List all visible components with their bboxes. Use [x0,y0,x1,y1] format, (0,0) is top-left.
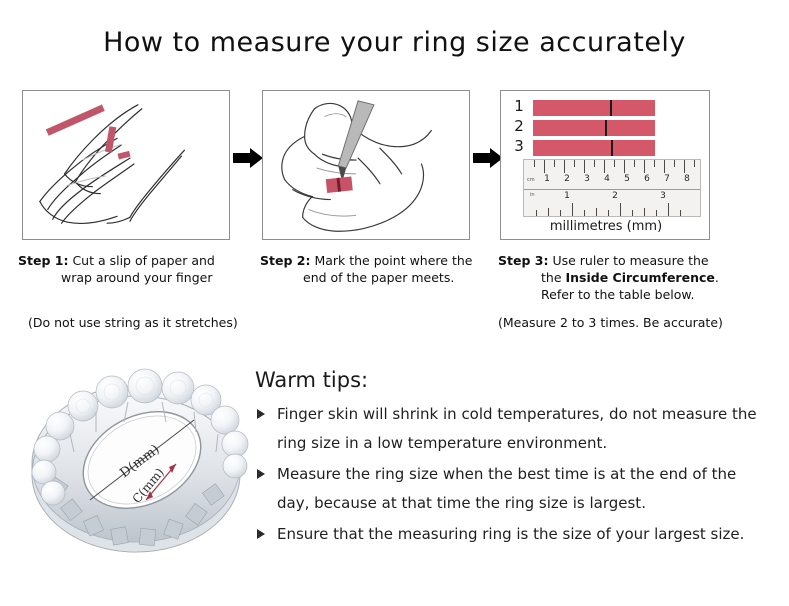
ruler-caption: millimetres (mm) [501,219,710,234]
step-3-line-2: the Inside Circumference. [498,269,748,286]
triangle-bullet-icon [257,529,265,539]
step-3-line-2-tail: . [715,270,719,285]
paper-strip-bar [533,140,655,156]
triangle-bullet-icon [257,469,265,479]
step-3-line-1: Use ruler to measure the [552,253,708,268]
strip-number: 2 [511,117,527,135]
ruler-cm-label: 1 [544,174,550,184]
page-title: How to measure your ring size accurately [0,27,789,58]
hand-marking-paper-with-pen-icon [263,91,469,239]
paper-strip-bar [533,100,655,116]
tip-item: Measure the ring size when the best time… [255,460,760,518]
tip-text: Measure the ring size when the best time… [277,465,736,512]
ruler-inch-unit: in [530,192,535,198]
step-1-line-1: Cut a slip of paper and [72,253,214,268]
ruler-cm-label: 5 [624,174,630,184]
step-1-line-2: wrap around your finger [18,269,253,286]
tip-text: Ensure that the measuring ring is the si… [277,525,744,543]
step-3-measurement-panel: 1 2 3 cm [500,90,710,240]
ruler-graphic: cm 1 2 3 4 5 6 7 8 [523,159,701,217]
step-2-label: Step 2: [260,253,310,268]
measured-strip-row: 1 [511,100,701,116]
ruler-inch-label: 3 [660,191,666,201]
step-3-note: (Measure 2 to 3 times. Be accurate) [498,315,723,330]
tip-item: Finger skin will shrink in cold temperat… [255,400,760,458]
triangle-bullet-icon [257,409,265,419]
measured-strip-row: 3 [511,140,701,156]
step-1-caption: Step 1: Cut a slip of paper and wrap aro… [18,252,253,286]
step-2-line-1: Mark the point where the [314,253,472,268]
step-3-line-2-prefix: the [541,270,566,285]
eternity-ring-illustration-icon: D(mm) C(mm) [20,352,252,574]
ring-diagram-photo: D(mm) C(mm) [20,352,252,574]
ruler-cm-label: 4 [604,174,610,184]
step-2-line-2: end of the paper meets. [260,269,495,286]
step-1-label: Step 1: [18,253,68,268]
ruler-cm-label: 7 [664,174,670,184]
measured-strip-row: 2 [511,120,701,136]
step-3-label: Step 3: [498,253,548,268]
step-1-note: (Do not use string as it stretches) [28,315,238,330]
ruler-cm-label: 6 [644,174,650,184]
strip-number: 1 [511,97,527,115]
strip-mark [610,100,612,116]
ruler-centimetre-scale: cm 1 2 3 4 5 6 7 8 [524,160,700,190]
ruler-cm-unit: cm [527,177,535,183]
ruler-inch-label: 1 [564,191,570,201]
step-2-illustration-panel [262,90,470,240]
ruler-cm-label: 3 [584,174,590,184]
hand-with-paper-strip-icon [23,91,229,239]
strip-mark [611,140,613,156]
paper-strip-bar [533,120,655,136]
warm-tips-list: Finger skin will shrink in cold temperat… [255,400,760,551]
step-1-illustration-panel [22,90,230,240]
ruler-inch-scale: in 1 2 3 [524,189,700,217]
step-3-line-3: Refer to the table below. [498,286,748,303]
ruler-cm-label: 2 [564,174,570,184]
ruler-inch-label: 2 [612,191,618,201]
tip-item: Ensure that the measuring ring is the si… [255,520,760,549]
tip-text: Finger skin will shrink in cold temperat… [277,405,757,452]
ruler-cm-label: 8 [684,174,690,184]
strip-number: 3 [511,137,527,155]
inside-circumference-emphasis: Inside Circumference [566,270,715,285]
warm-tips-heading: Warm tips: [255,368,368,392]
step-2-caption: Step 2: Mark the point where the end of … [260,252,495,286]
step-3-caption: Step 3: Use ruler to measure the the Ins… [498,252,748,303]
strip-mark [605,120,607,136]
